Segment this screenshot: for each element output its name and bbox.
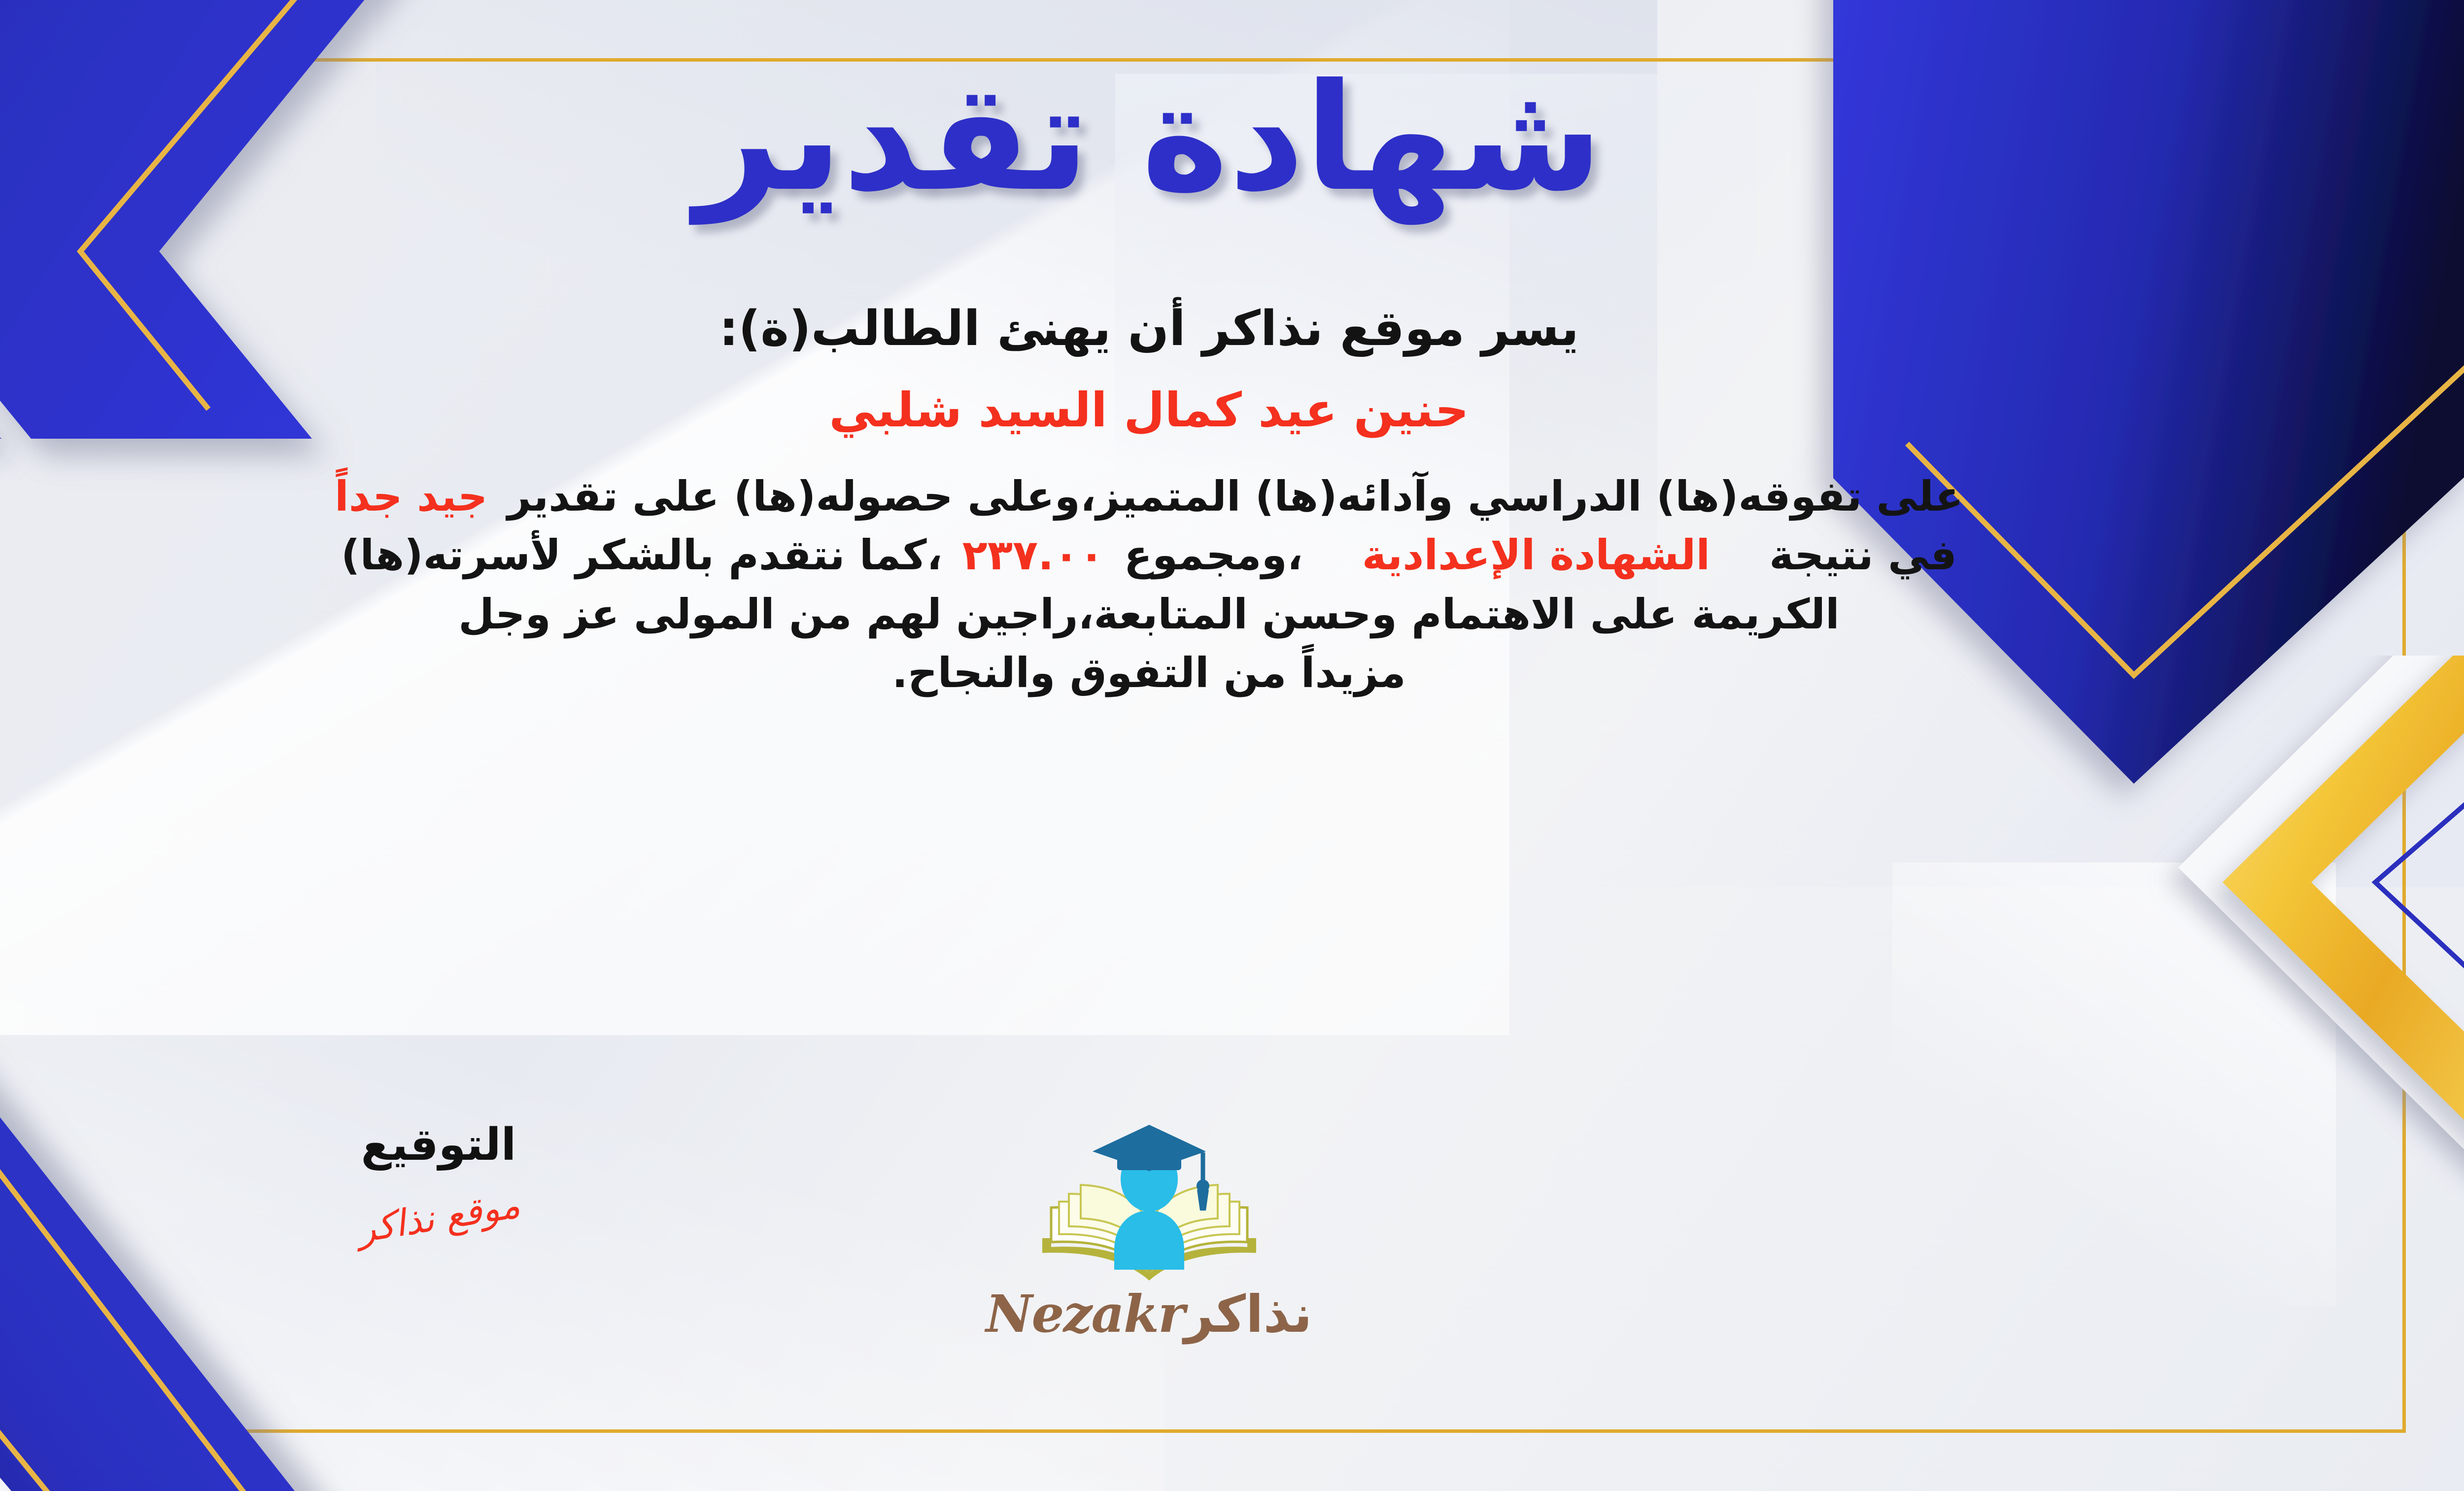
student-name: حنين عيد كمال السيد شلبي bbox=[829, 382, 1469, 438]
signature-block: التوقيع موقع نذاكر bbox=[286, 1119, 591, 1239]
graduation-book-icon bbox=[1033, 1124, 1265, 1286]
logo-latin-name: Nezakr bbox=[986, 1283, 1184, 1344]
total-score-value: ٢٣٧.٠٠ bbox=[962, 531, 1104, 579]
exam-name: الشهادة الإعدادية bbox=[1362, 531, 1710, 579]
body-line-1: على تفوقه(ها) الدراسي وآدائه(ها) المتميز… bbox=[139, 467, 2159, 526]
logo-wordmark: Nezakrنذاكر bbox=[962, 1283, 1336, 1344]
signature-mark: موقع نذاكر bbox=[354, 1184, 523, 1251]
greeting-line: يسر موقع نذاكر أن يهنئ الطالب(ة): bbox=[719, 301, 1579, 357]
grade-value: جيد جداً bbox=[335, 472, 487, 520]
body-text-total-label: ،ومجموع bbox=[1124, 531, 1303, 579]
site-logo: Nezakrنذاكر bbox=[962, 1124, 1336, 1344]
signature-label: التوقيع bbox=[286, 1119, 591, 1171]
certificate-page: شهادة تقدير يسر موقع نذاكر أن يهنئ الطال… bbox=[0, 0, 2464, 1491]
certificate-body: على تفوقه(ها) الدراسي وآدائه(ها) المتميز… bbox=[139, 467, 2159, 702]
body-line-2: في نتيجةالشهادة الإعدادية،ومجموع٢٣٧.٠٠،ك… bbox=[139, 526, 2159, 585]
body-text-achievement: على تفوقه(ها) الدراسي وآدائه(ها) المتميز… bbox=[507, 472, 1963, 520]
certificate-title: شهادة تقدير bbox=[695, 64, 1603, 212]
body-text-result-prefix: في نتيجة bbox=[1769, 531, 1957, 579]
body-line-4: مزيداً من التفوق والنجاح. bbox=[139, 644, 2159, 702]
certificate-footer: التوقيع موقع نذاكر bbox=[0, 1119, 2464, 1434]
body-text-thanks: ،كما نتقدم بالشكر لأسرته(ها) bbox=[341, 531, 942, 579]
body-line-3: الكريمة على الاهتمام وحسن المتابعة،راجين… bbox=[139, 585, 2159, 644]
logo-arabic-name: نذاكر bbox=[1184, 1284, 1312, 1344]
